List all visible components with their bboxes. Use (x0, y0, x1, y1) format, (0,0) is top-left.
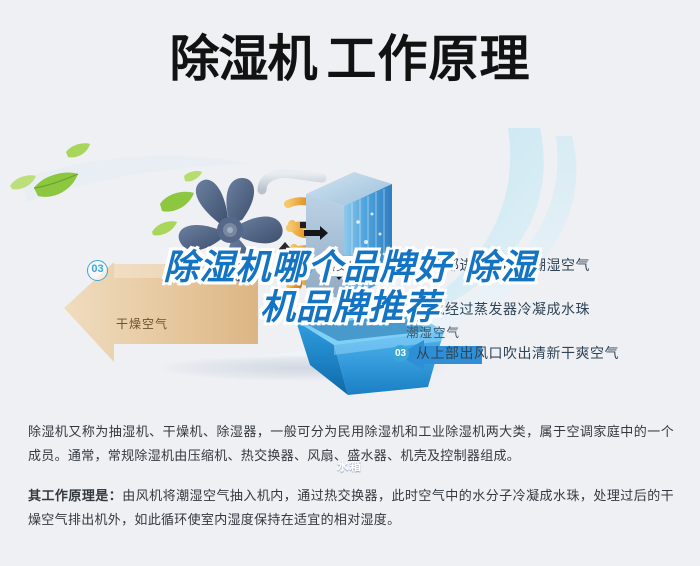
step-number: 02 (392, 301, 409, 318)
heat-exchanger-callout: 热交换器 (314, 255, 382, 277)
title-text: 除湿机工作原理 (170, 34, 531, 84)
title-part-b: 工作原理 (327, 30, 531, 88)
step-text: 从上部出风口吹出清新干爽空气 (416, 343, 619, 363)
step-list: 01 从下部进风口吸入潮湿空气 02 空气经过蒸发器冷凝成水珠 03 从上部出风… (392, 250, 692, 382)
body-paragraph-2-lead: 其工作原理是： (28, 488, 122, 503)
step-text: 从下部进风口吸入潮湿空气 (416, 255, 590, 275)
page-root: 除湿机工作原理 (0, 0, 700, 566)
step-number: 03 (392, 345, 409, 362)
leaf-icon-group (10, 130, 150, 250)
list-item: 01 从下部进风口吸入潮湿空气 (392, 250, 692, 280)
body-paragraph-2: 其工作原理是：由风机将潮湿空气抽入机内，通过热交换器，此时空气中的水分子冷凝成水… (28, 484, 674, 532)
body-paragraph-2-rest: 由风机将潮湿空气抽入机内，通过热交换器，此时空气中的水分子冷凝成水珠，处理过后的… (28, 488, 674, 527)
callout-tail (340, 274, 347, 296)
list-item: 02 空气经过蒸发器冷凝成水珠 (392, 294, 692, 324)
page-title: 除湿机工作原理 (0, 24, 700, 94)
badge-02: 02 (292, 256, 313, 277)
title-part-a: 除湿机 (170, 30, 317, 88)
step-number: 01 (392, 257, 409, 274)
article-body: 除湿机又称为抽湿机、干燥机、除湿器，一般可分为民用除湿机和工业除湿机两大类，属于… (28, 420, 674, 548)
list-item: 03 从上部出风口吹出清新干爽空气 (392, 338, 692, 368)
dry-air-label: 干燥空气 (116, 315, 168, 332)
badge-03: 03 (87, 260, 108, 281)
step-text: 空气经过蒸发器冷凝成水珠 (416, 299, 590, 319)
leaf-icon-small-group (140, 170, 230, 260)
compressor-coils (252, 162, 382, 312)
body-paragraph-1: 除湿机又称为抽湿机、干燥机、除湿器，一般可分为民用除湿机和工业除湿机两大类，属于… (28, 420, 674, 468)
